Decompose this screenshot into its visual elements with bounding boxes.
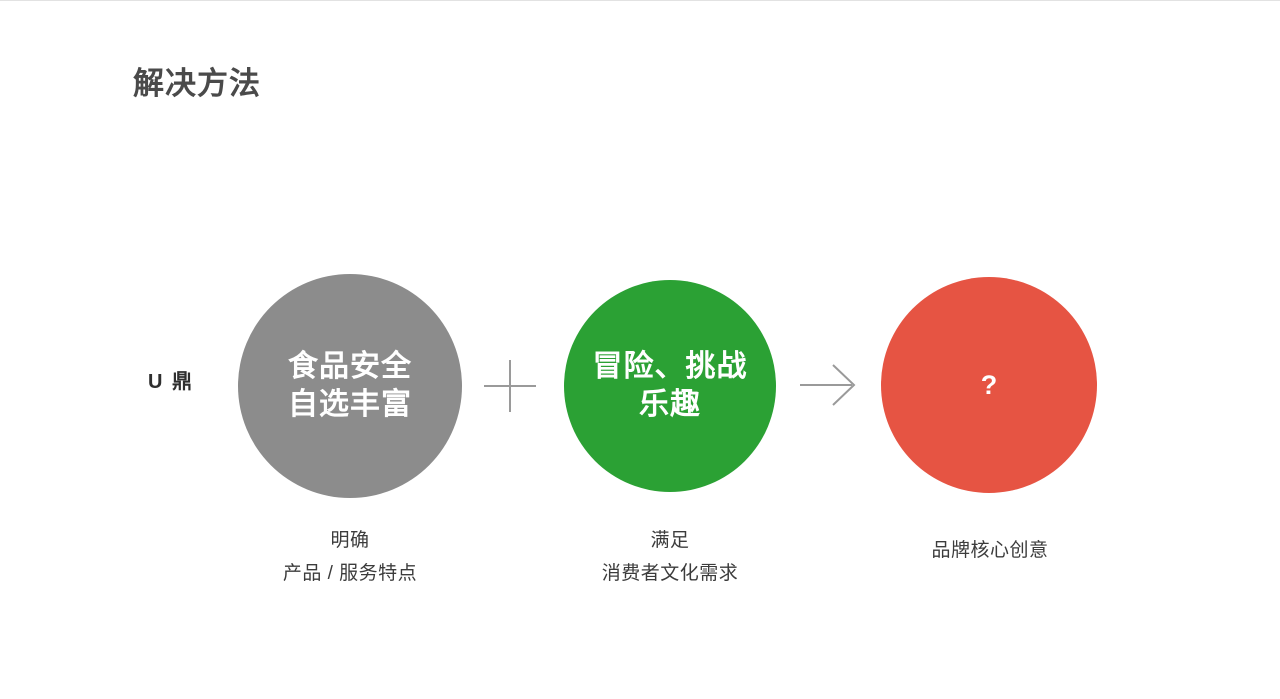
arrow-right-icon [800,359,858,411]
diagram-caption-gray: 明确 产品 / 服务特点 [230,525,470,590]
solution-diagram: 食品安全 自选丰富 冒险、挑战 乐趣 ? 明确 产品 / 服务特点 满足 消费者… [0,1,1280,699]
slide-canvas: 解决方法 U 鼎 食品安全 自选丰富 冒险、挑战 乐趣 ? 明确 产品 / 服 [0,1,1280,698]
plus-icon-vertical-bar [509,360,511,412]
diagram-node-gray[interactable]: 食品安全 自选丰富 [238,274,462,498]
diagram-node-red[interactable]: ? [881,277,1097,493]
plus-icon [484,360,536,412]
diagram-node-red-label: ? [981,372,998,399]
diagram-caption-green: 满足 消费者文化需求 [550,525,790,590]
diagram-node-gray-label: 食品安全 自选丰富 [288,348,412,425]
diagram-node-green-label: 冒险、挑战 乐趣 [593,348,748,425]
diagram-caption-red: 品牌核心创意 [870,535,1110,568]
diagram-node-green[interactable]: 冒险、挑战 乐趣 [564,280,776,492]
